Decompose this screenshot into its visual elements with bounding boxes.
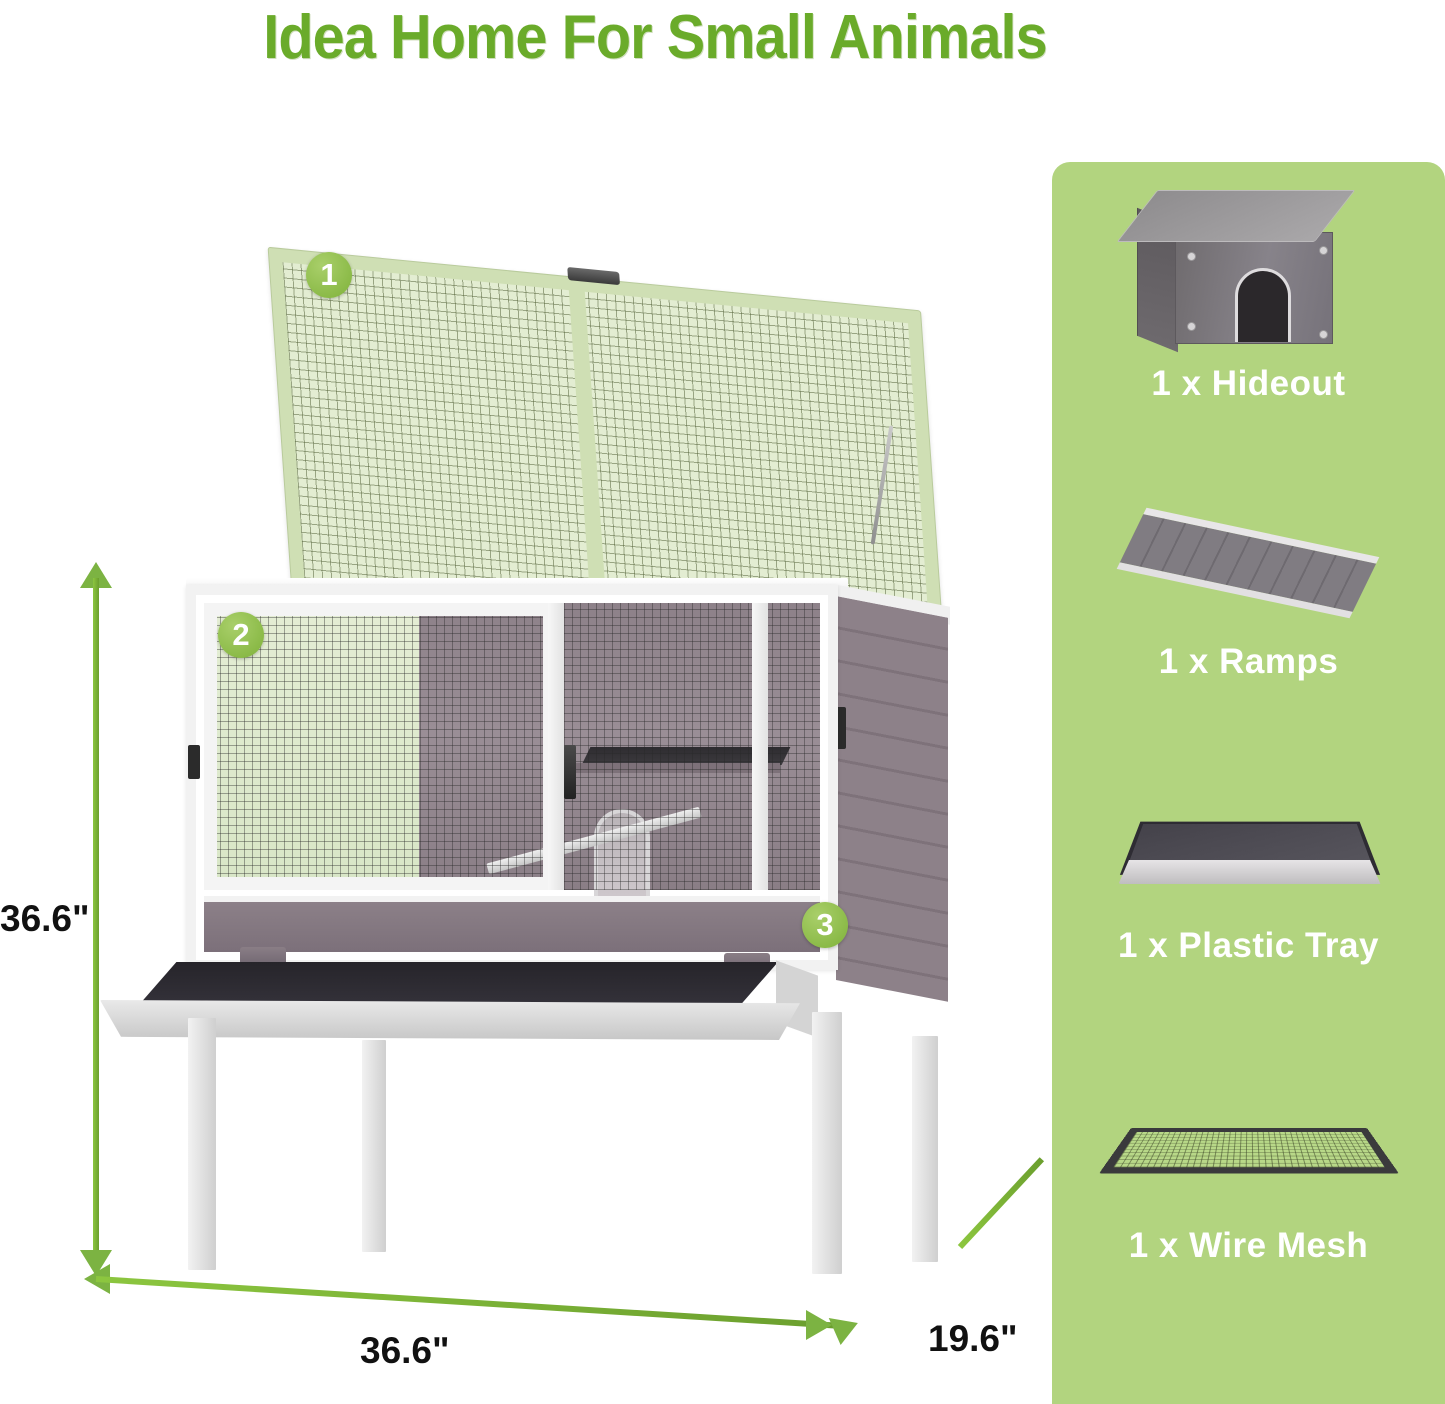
accessory-label-wire-mesh: 1 x Wire Mesh [1052,1226,1445,1266]
tray-surface [138,962,778,1006]
wire-mesh-icon [1052,1102,1445,1222]
plastic-tray-icon [1052,802,1445,922]
hutch-illustration: 1 2 3 36.6" 36.6" 19.6" [0,0,1045,1404]
leg-front-right [812,1012,842,1274]
right-post [752,603,768,890]
width-dimension-label: 36.6" [360,1330,450,1372]
leg-front-left [188,1018,216,1270]
door-hinge-icon [188,745,200,779]
hideout-icon [1052,190,1445,360]
depth-dimension-label: 19.6" [928,1318,1018,1360]
lower-kick-panel [204,896,820,952]
accessory-panel: 1 x Hideout 1 x Ramps 1 x Plastic Tray 1… [1052,162,1445,1404]
height-dimension-line [93,578,99,1268]
callout-badge-2: 2 [218,612,264,658]
accessory-label-ramps: 1 x Ramps [1052,642,1445,682]
width-dimension-line [96,1276,835,1328]
depth-dimension-line [958,1157,1044,1249]
hutch-body [186,585,838,970]
leg-back-left [362,1040,386,1252]
center-post [548,603,564,890]
accessory-item-wire-mesh: 1 x Wire Mesh [1052,1102,1445,1266]
accessory-item-hideout: 1 x Hideout [1052,190,1445,404]
callout-badge-1: 1 [306,252,352,298]
leg-back-right [912,1036,938,1262]
accessory-label-plastic-tray: 1 x Plastic Tray [1052,926,1445,966]
accessory-label-hideout: 1 x Hideout [1052,364,1445,404]
door-latch-icon [564,745,576,799]
ramp-icon [1052,508,1445,638]
side-siding-panel [836,592,948,1002]
height-dimension-label: 36.6" [0,898,86,940]
accessory-item-plastic-tray: 1 x Plastic Tray [1052,802,1445,966]
accessory-item-ramps: 1 x Ramps [1052,508,1445,682]
callout-badge-3: 3 [802,902,848,948]
